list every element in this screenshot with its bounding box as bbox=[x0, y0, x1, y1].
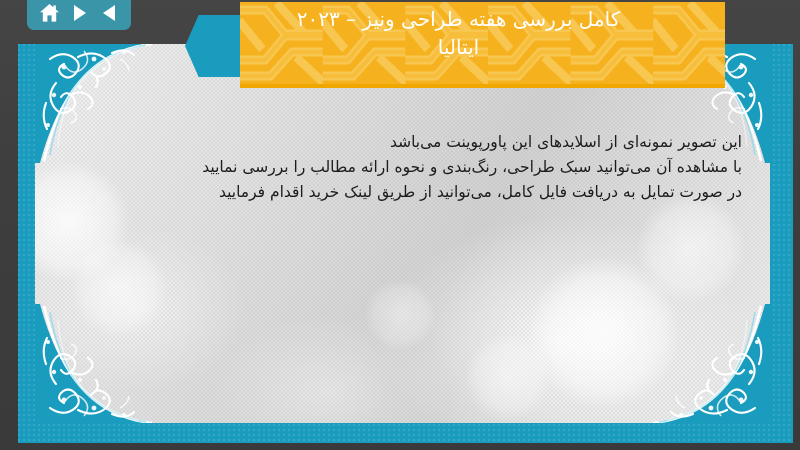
body-line-3: در صورت تمایل به دریافت فایل کامل، می‌تو… bbox=[63, 180, 742, 205]
home-icon bbox=[39, 3, 60, 23]
slide-body-text: این تصویر نمونه‌ای از اسلایدهای این پاور… bbox=[63, 130, 742, 205]
body-line-1: این تصویر نمونه‌ای از اسلایدهای این پاور… bbox=[63, 130, 742, 155]
home-button[interactable] bbox=[36, 1, 62, 25]
next-slide-button[interactable] bbox=[66, 1, 92, 25]
slide-viewer-window: این تصویر نمونه‌ای از اسلایدهای این پاور… bbox=[0, 0, 800, 450]
body-line-2: با مشاهده آن می‌توانید سبک طراحی، رنگ‌بن… bbox=[63, 155, 742, 180]
slide-canvas[interactable]: این تصویر نمونه‌ای از اسلایدهای این پاور… bbox=[18, 44, 793, 443]
triangle-right-icon bbox=[71, 4, 88, 22]
slide-title-banner: کامل بررسی هفته طراحی ونیز – ۲۰۲۳ ایتالی… bbox=[185, 2, 725, 88]
previous-slide-button[interactable] bbox=[96, 1, 122, 25]
banner-ribbon-tail bbox=[185, 15, 247, 77]
banner-body: کامل بررسی هفته طراحی ونیز – ۲۰۲۳ ایتالی… bbox=[240, 2, 725, 88]
slide-navigation-toolbar bbox=[27, 0, 131, 30]
slide-title: کامل بررسی هفته طراحی ونیز – ۲۰۲۳ ایتالی… bbox=[254, 5, 663, 62]
banner-underline bbox=[240, 84, 725, 88]
triangle-left-icon bbox=[101, 4, 118, 22]
panel-checker-texture bbox=[35, 44, 770, 423]
slide-content-panel: این تصویر نمونه‌ای از اسلایدهای این پاور… bbox=[35, 44, 770, 423]
